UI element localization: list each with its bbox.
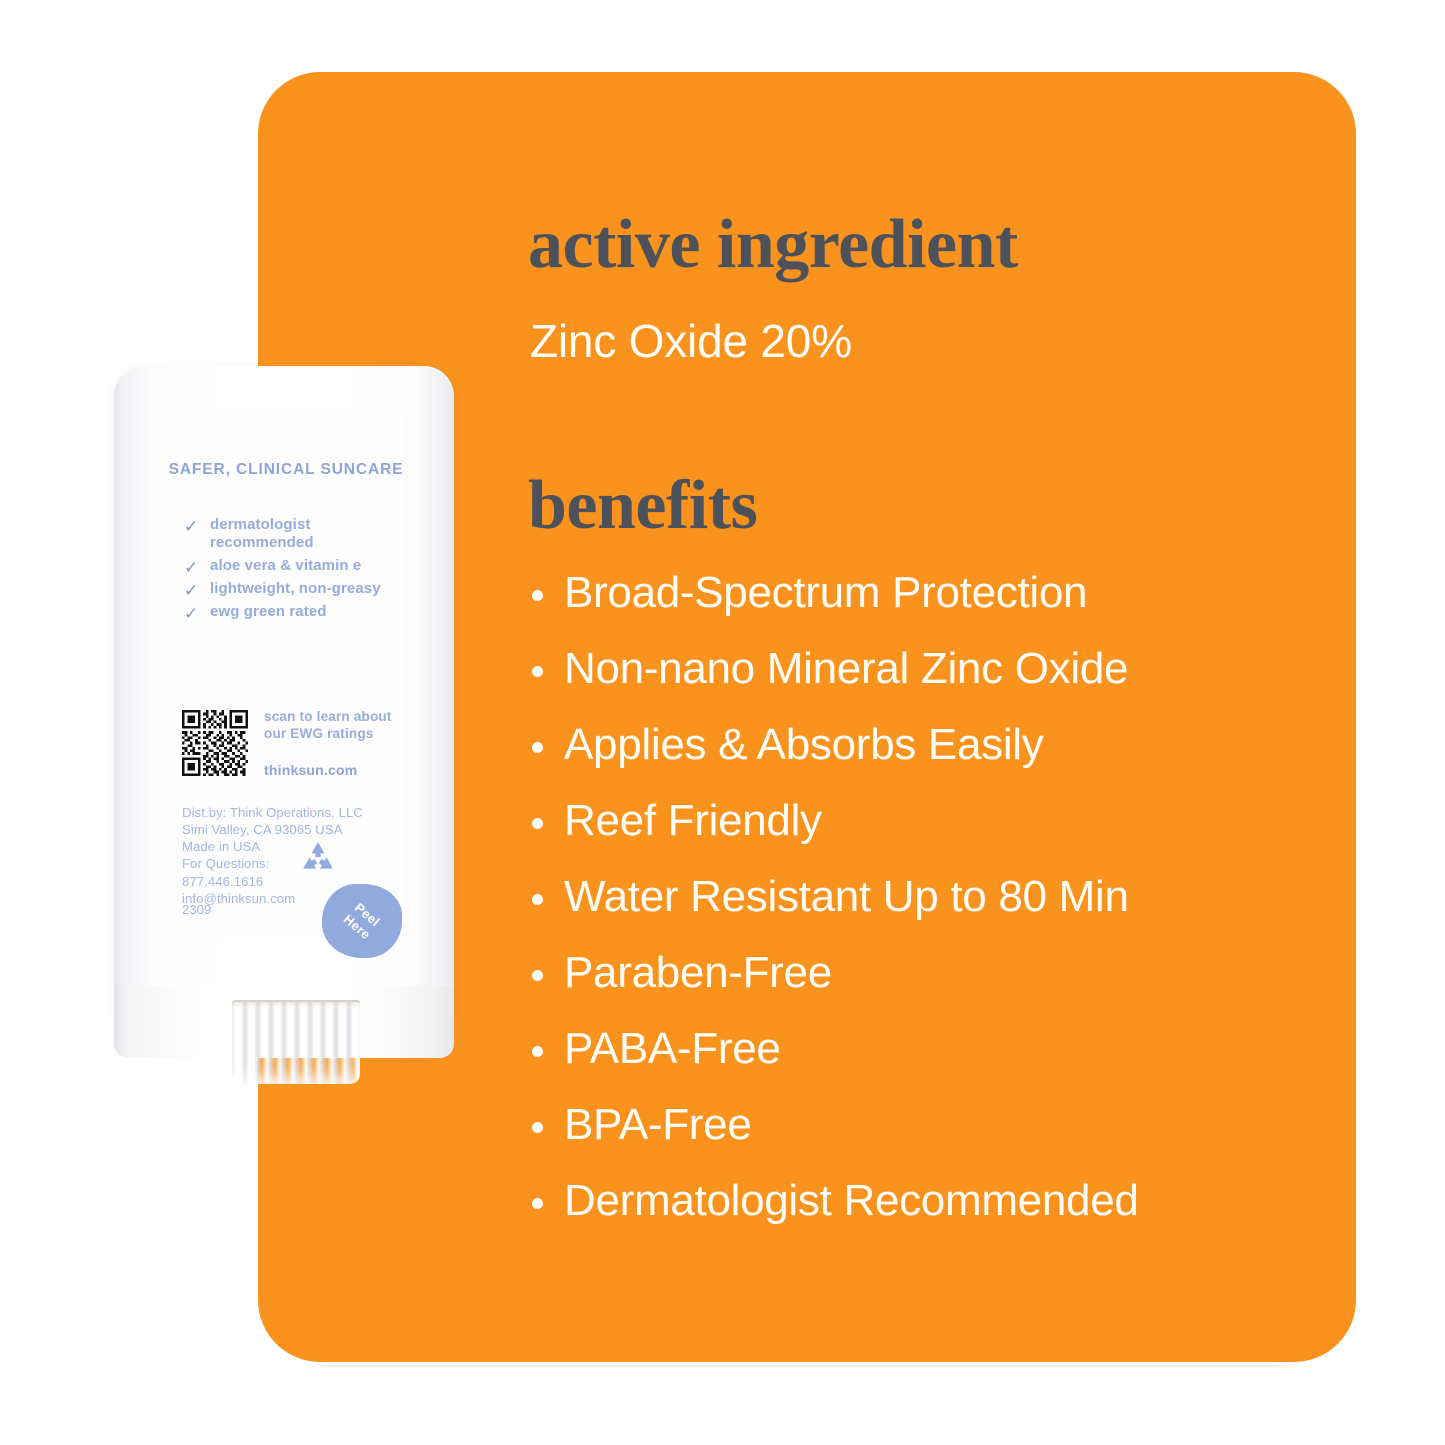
benefit-label: Applies & Absorbs Easily [564,720,1044,769]
bullet-dot-icon [532,1122,543,1133]
bullet-dot-icon [532,818,543,829]
peel-here-text: Peel Here [340,899,383,943]
stick-dial-knob [232,1000,360,1084]
benefit-label: BPA-Free [564,1100,752,1149]
benefit-label: Paraben-Free [564,948,832,997]
bullet-dot-icon [532,590,543,601]
bullet-dot-icon [532,1046,543,1057]
label-title: SAFER, CLINICAL SUNCARE [168,460,404,480]
benefits-list: Broad-Spectrum Protection Non-nano Miner… [528,571,1318,1223]
checklist-label: aloe vera & vitamin e [210,557,361,574]
checklist-item: ✓ lightweight, non-greasy [180,580,404,598]
benefit-item: PABA-Free [528,1027,1318,1071]
active-ingredient-value: Zinc Oxide 20% [530,316,1318,367]
checklist-item: ✓ dermatologist recommended [180,516,404,552]
benefit-item: BPA-Free [528,1103,1318,1147]
bullet-dot-icon [532,970,543,981]
bullet-dot-icon [532,742,543,753]
checklist-item: ✓ ewg green rated [180,603,404,621]
benefit-label: Broad-Spectrum Protection [564,568,1087,617]
checklist-item: ✓ aloe vera & vitamin e [180,557,404,575]
checklist-label: lightweight, non-greasy [210,580,381,597]
label-lot-code: 2309 [182,902,211,917]
product-label-panel: SAFER, CLINICAL SUNCARE ✓ dermatologist … [168,408,404,938]
check-icon: ✓ [184,558,198,578]
bullet-dot-icon [532,894,543,905]
qr-caption: scan to learn about our EWG ratings [264,708,394,743]
peel-here-tab[interactable]: Peel Here [322,884,402,958]
benefit-item: Paraben-Free [528,951,1318,995]
benefit-label: PABA-Free [564,1024,781,1073]
checklist-label: dermatologist recommended [210,516,314,551]
benefits-heading: benefits [528,471,1318,541]
product-sunscreen-stick: SAFER, CLINICAL SUNCARE ✓ dermatologist … [104,366,460,1078]
benefit-item: Non-nano Mineral Zinc Oxide [528,647,1318,691]
benefit-item: Dermatologist Recommended [528,1179,1318,1223]
check-icon: ✓ [184,517,198,537]
benefit-label: Water Resistant Up to 80 Min [564,872,1129,921]
check-icon: ✓ [184,604,198,624]
label-checklist: ✓ dermatologist recommended ✓ aloe vera … [180,516,404,626]
bullet-dot-icon [532,666,543,677]
qr-website[interactable]: thinksun.com [264,762,357,778]
benefit-label: Non-nano Mineral Zinc Oxide [564,644,1128,693]
benefit-item: Broad-Spectrum Protection [528,571,1318,615]
active-ingredient-heading: active ingredient [528,210,1318,280]
recycle-icon [298,840,338,878]
benefit-label: Reef Friendly [564,796,822,845]
product-infographic: active ingredient Zinc Oxide 20% benefit… [0,0,1445,1445]
benefit-item: Water Resistant Up to 80 Min [528,875,1318,919]
checklist-label: ewg green rated [210,603,327,620]
bullet-dot-icon [532,1198,543,1209]
benefit-item: Reef Friendly [528,799,1318,843]
qr-code-icon[interactable] [182,710,248,776]
benefit-item: Applies & Absorbs Easily [528,723,1318,767]
card-content: active ingredient Zinc Oxide 20% benefit… [528,210,1318,1255]
benefit-label: Dermatologist Recommended [564,1176,1139,1225]
check-icon: ✓ [184,581,198,601]
